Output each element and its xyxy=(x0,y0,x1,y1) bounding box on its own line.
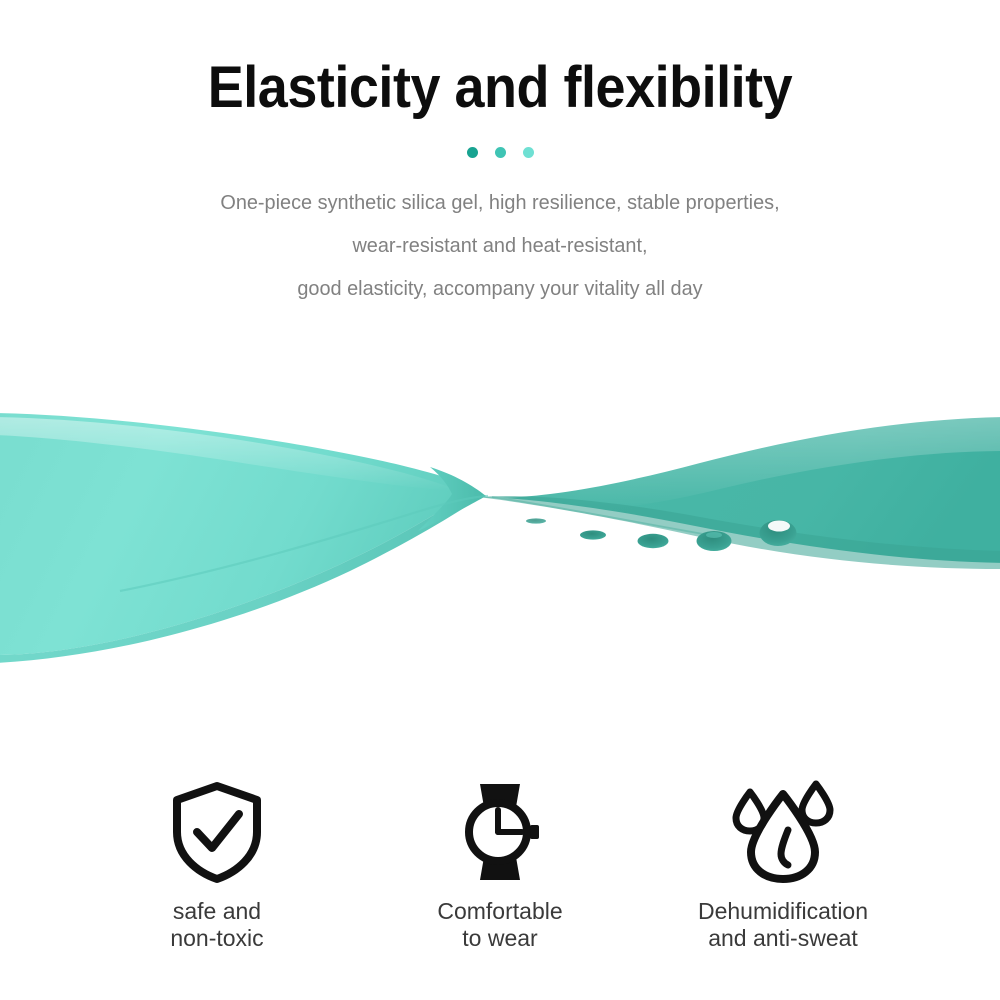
feature-label-dehumidification: Dehumidification and anti-sweat xyxy=(698,898,868,952)
subtitle-block: One-piece synthetic silica gel, high res… xyxy=(15,181,985,310)
subtitle-line-3: good elasticity, accompany your vitality… xyxy=(15,267,985,310)
feature-label-line-2: to wear xyxy=(437,925,562,952)
adjustment-hole-2 xyxy=(580,530,606,539)
adjustment-hole-1 xyxy=(526,518,546,523)
feature-label-comfortable-to-wear: Comfortable to wear xyxy=(437,898,562,952)
feature-item-comfortable-to-wear: Comfortable to wear xyxy=(375,776,625,952)
divider-dots xyxy=(0,147,1000,159)
divider-dot-1 xyxy=(467,147,478,158)
divider-dot-2 xyxy=(495,147,506,158)
page-title: Elasticity and flexibility xyxy=(35,58,965,119)
feature-label-safe-non-toxic: safe and non-toxic xyxy=(170,898,263,952)
subtitle-line-1: One-piece synthetic silica gel, high res… xyxy=(15,181,985,224)
feature-label-line-1: Comfortable xyxy=(437,898,562,925)
feature-label-line-1: safe and xyxy=(170,898,263,925)
feature-label-line-2: and anti-sweat xyxy=(698,925,868,952)
product-image xyxy=(0,355,1000,705)
feature-label-line-1: Dehumidification xyxy=(698,898,868,925)
adjustment-hole-3 xyxy=(638,534,669,548)
header-block: Elasticity and flexibility One-piece syn… xyxy=(0,0,1000,310)
divider-dot-3 xyxy=(523,147,534,158)
feature-label-line-2: non-toxic xyxy=(170,925,263,952)
feature-item-dehumidification: Dehumidification and anti-sweat xyxy=(658,776,908,952)
water-droplets-icon xyxy=(729,776,837,884)
wristwatch-icon xyxy=(450,776,550,884)
adjustment-hole-4-highlight xyxy=(706,532,722,538)
feature-item-safe-non-toxic: safe and non-toxic xyxy=(92,776,342,952)
feature-list: safe and non-toxic xyxy=(0,776,1000,952)
subtitle-line-2: wear-resistant and heat-resistant, xyxy=(15,224,985,267)
twisted-band-illustration xyxy=(0,355,1000,705)
product-feature-banner: Elasticity and flexibility One-piece syn… xyxy=(0,0,1000,1000)
adjustment-hole-5-highlight xyxy=(768,521,790,532)
shield-check-icon xyxy=(169,776,265,884)
